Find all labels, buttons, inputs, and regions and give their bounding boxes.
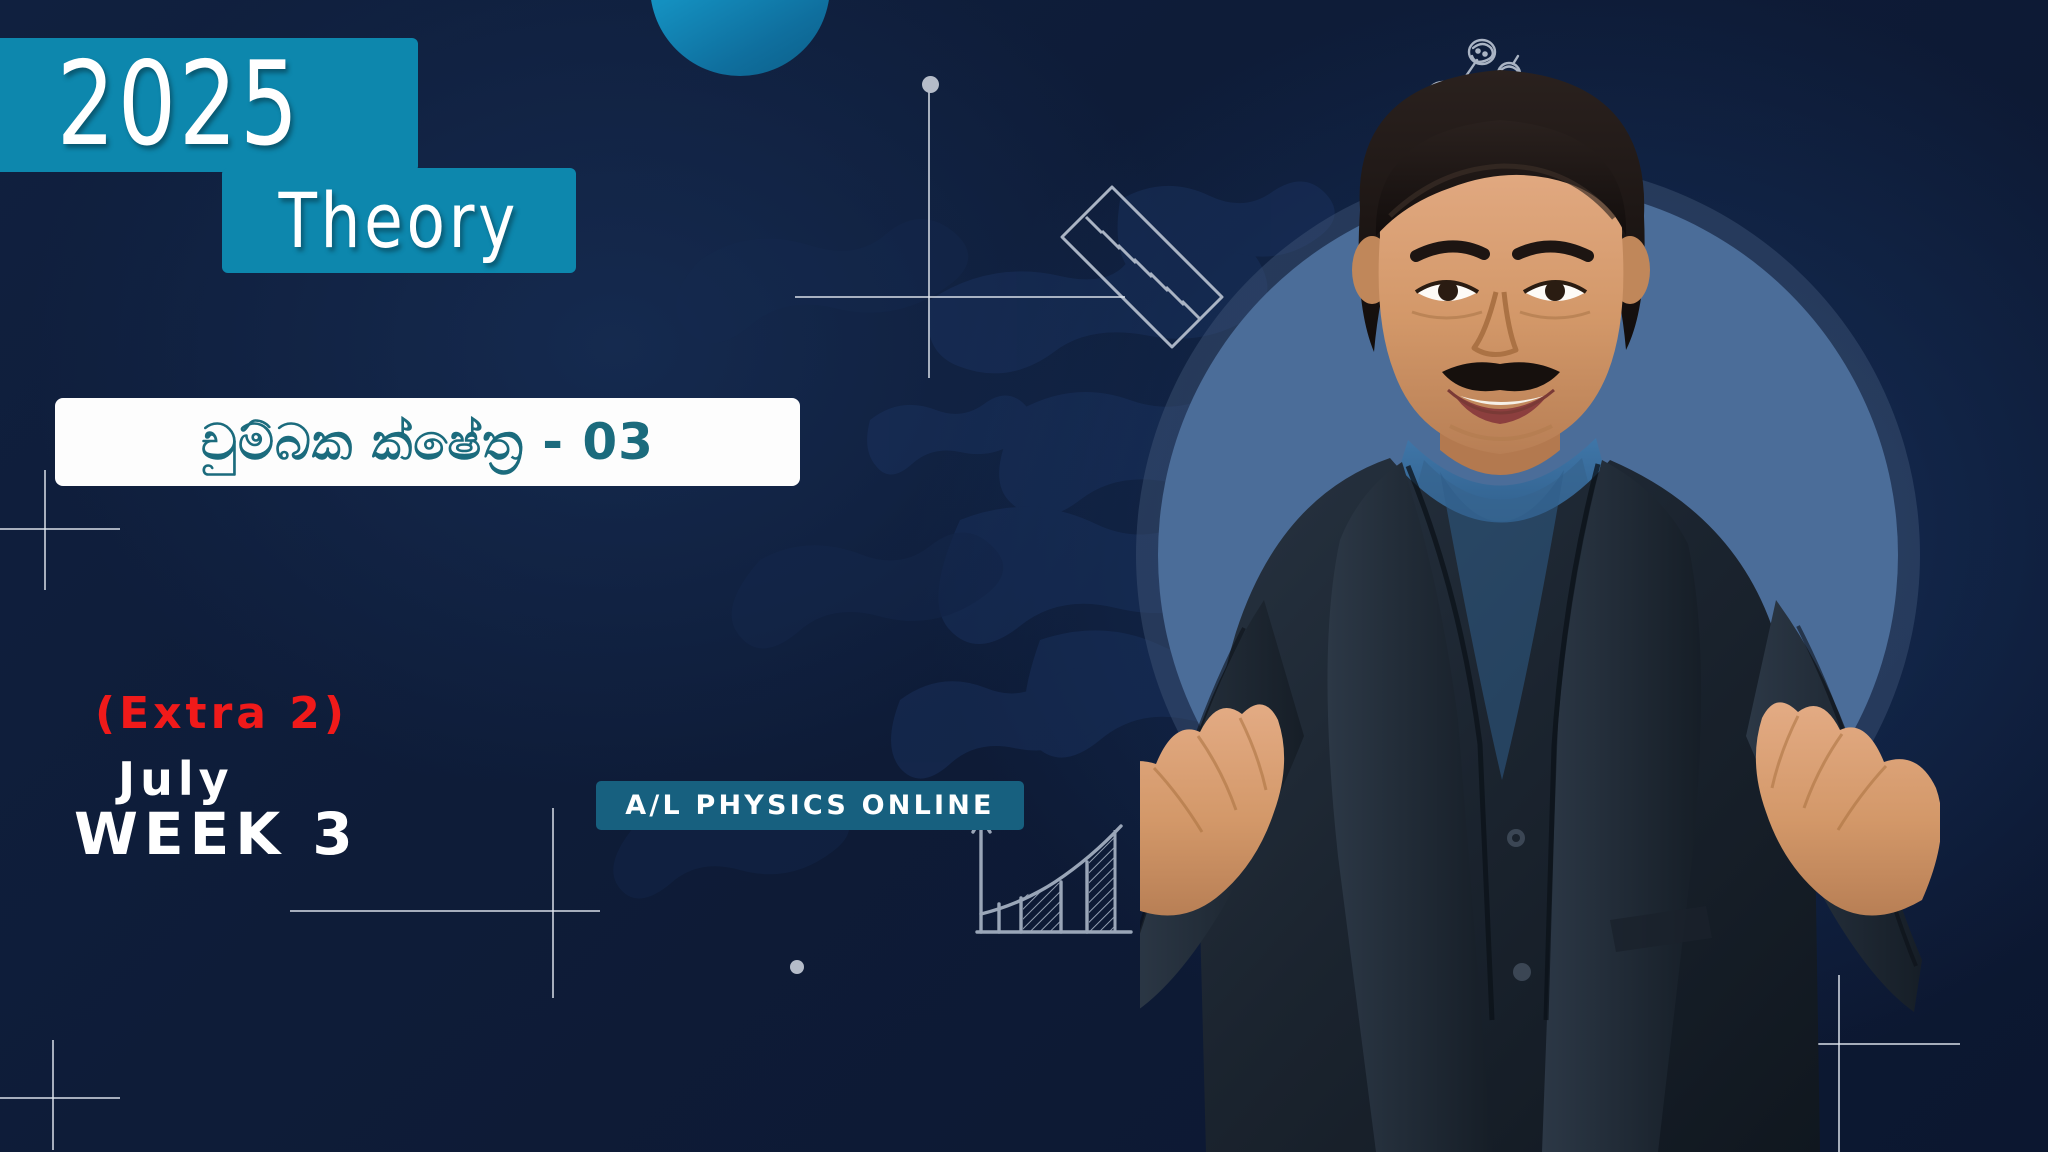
month-label: July (118, 752, 234, 806)
year-badge: 2025 (0, 38, 418, 172)
extra-session-label: (Extra 2) (95, 688, 348, 739)
course-type-label: Theory (279, 183, 520, 259)
growth-graph-icon (965, 808, 1165, 958)
crosshair-mark (795, 78, 1125, 378)
year-badge-label: 2025 (57, 47, 301, 163)
channel-badge: A/L PHYSICS ONLINE (596, 781, 1024, 830)
week-label: WEEK 3 (74, 800, 359, 868)
lesson-title-text: චුම්බක ක්ෂේත්‍ර - 03 (201, 417, 654, 467)
crosshair-mark (0, 470, 120, 590)
thumbnail-canvas: 2025 Theory චුම්බක ක්ෂේත්‍ර - 03 (Extra … (0, 0, 2048, 1152)
channel-badge-label: A/L PHYSICS ONLINE (625, 792, 994, 819)
course-type-badge: Theory (222, 168, 576, 273)
dot-mark (922, 76, 939, 93)
instructor-portrait (1140, 20, 1940, 1152)
dot-mark (790, 960, 804, 974)
gradient-sphere-decor (650, 0, 830, 76)
lesson-title-card: චුම්බක ක්ෂේත්‍ර - 03 (55, 398, 800, 486)
crosshair-mark (0, 1040, 120, 1150)
